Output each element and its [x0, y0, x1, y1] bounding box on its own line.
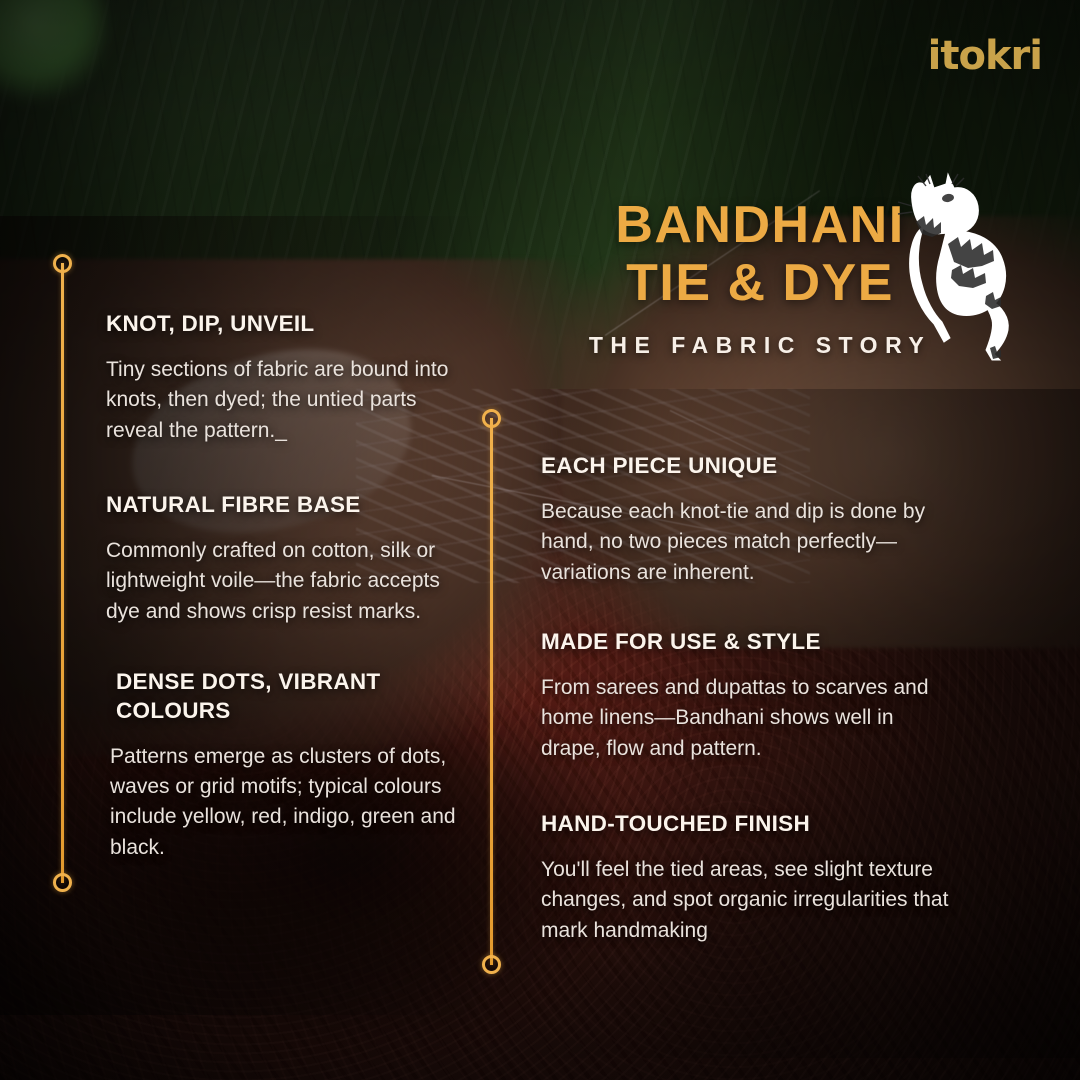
connector-stem: [490, 418, 493, 965]
center-timeline-connector: [481, 409, 501, 974]
feature-body: You'll feel the tied areas, see slight t…: [541, 855, 949, 946]
itokri-logo[interactable]: itokri: [928, 36, 1042, 76]
left-timeline-connector: [52, 254, 72, 892]
logo-text: itokri: [928, 33, 1042, 79]
feature-block-hand-touched-finish: HAND-TOUCHED FINISH You'll feel the tied…: [541, 810, 949, 946]
feature-body: Because each knot-tie and dip is done by…: [541, 497, 941, 588]
feature-heading: HAND-TOUCHED FINISH: [541, 810, 949, 839]
feature-heading: KNOT, DIP, UNVEIL: [106, 310, 472, 339]
feature-heading: EACH PIECE UNIQUE: [541, 452, 941, 481]
cat-illustration: [890, 172, 1025, 362]
feature-block-each-piece-unique: EACH PIECE UNIQUE Because each knot-tie …: [541, 452, 941, 588]
feature-heading: DENSE DOTS, VIBRANT COLOURS: [108, 668, 478, 726]
feature-block-natural-fibre-base: NATURAL FIBRE BASE Commonly crafted on c…: [106, 491, 468, 627]
feature-block-dense-dots-vibrant-colours: DENSE DOTS, VIBRANT COLOURS Patterns eme…: [108, 668, 478, 863]
feature-body: Patterns emerge as clusters of dots, wav…: [108, 742, 478, 864]
feature-block-knot-dip-unveil: KNOT, DIP, UNVEIL Tiny sections of fabri…: [106, 310, 472, 446]
feature-heading: MADE FOR USE & STYLE: [541, 628, 941, 657]
infographic-poster: itokri BANDHANI TIE & DYE THE FABRIC STO…: [0, 0, 1080, 1080]
connector-stem: [61, 263, 64, 883]
feature-body: Commonly crafted on cotton, silk or ligh…: [106, 536, 468, 627]
feature-body: From sarees and dupattas to scarves and …: [541, 673, 941, 764]
feature-heading: NATURAL FIBRE BASE: [106, 491, 468, 520]
connector-ring-bottom: [53, 873, 72, 892]
feature-body: Tiny sections of fabric are bound into k…: [106, 355, 472, 446]
connector-ring-bottom: [482, 955, 501, 974]
feature-block-made-for-use-style: MADE FOR USE & STYLE From sarees and dup…: [541, 628, 941, 764]
